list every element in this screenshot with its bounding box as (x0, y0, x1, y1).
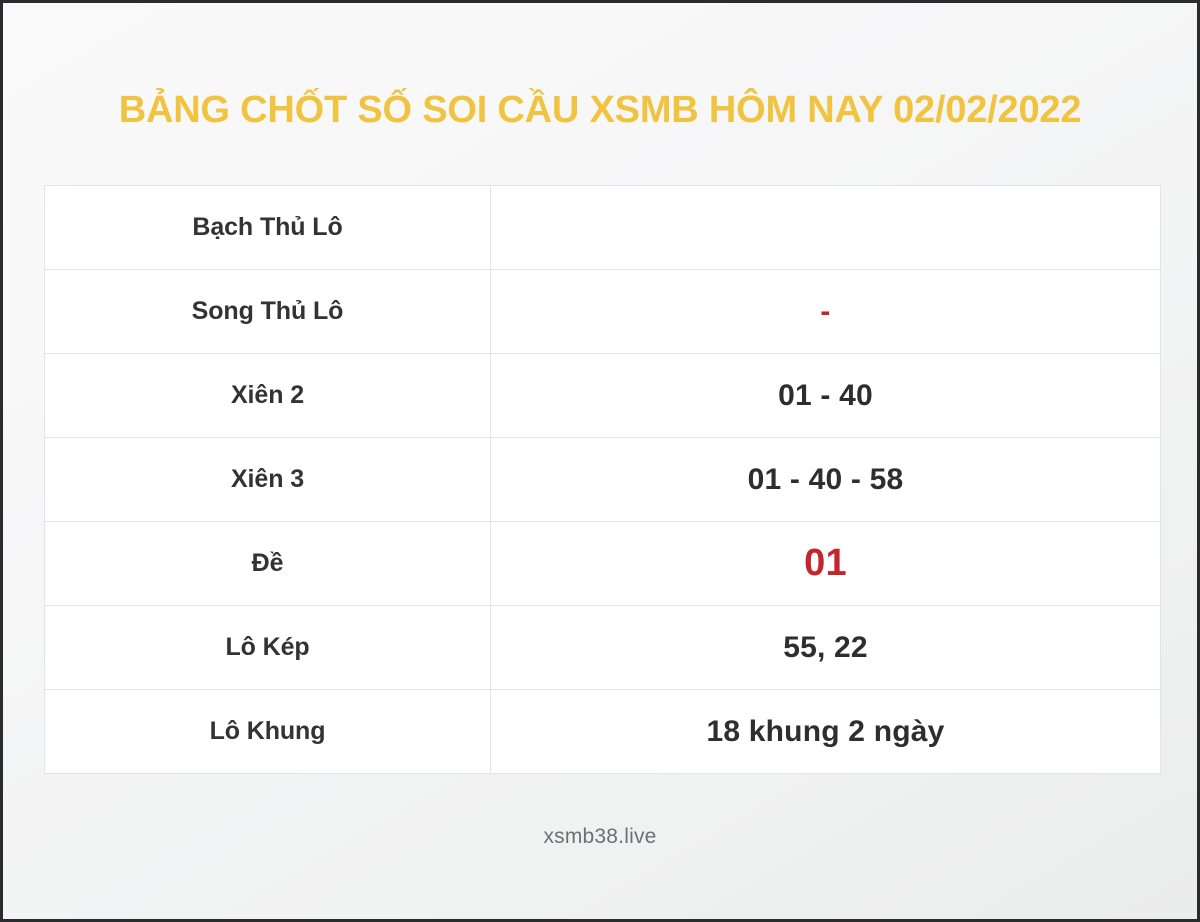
row-label-lo-khung: Lô Khung (45, 690, 491, 774)
row-label-de: Đề (45, 522, 491, 606)
row-value-xien-2: 01 - 40 (491, 354, 1161, 438)
soi-cau-table: Bạch Thủ Lô Song Thủ Lô - Xiên 2 01 - 40… (44, 185, 1161, 774)
table-row: Đề 01 (45, 522, 1161, 606)
row-label-lo-kep: Lô Kép (45, 606, 491, 690)
table-row: Bạch Thủ Lô (45, 186, 1161, 270)
row-value-lo-khung: 18 khung 2 ngày (491, 690, 1161, 774)
soi-cau-table-wrapper: Bạch Thủ Lô Song Thủ Lô - Xiên 2 01 - 40… (44, 185, 1160, 774)
row-label-song-thu-lo: Song Thủ Lô (45, 270, 491, 354)
row-value-xien-3: 01 - 40 - 58 (491, 438, 1161, 522)
row-value-de: 01 (491, 522, 1161, 606)
footer-site-name: xsmb38.live (3, 825, 1197, 849)
row-value-song-thu-lo: - (491, 270, 1161, 354)
page-container: BẢNG CHỐT SỐ SOI CẦU XSMB HÔM NAY 02/02/… (3, 3, 1197, 919)
table-row: Lô Khung 18 khung 2 ngày (45, 690, 1161, 774)
table-row: Song Thủ Lô - (45, 270, 1161, 354)
row-label-xien-2: Xiên 2 (45, 354, 491, 438)
row-value-lo-kep: 55, 22 (491, 606, 1161, 690)
table-body: Bạch Thủ Lô Song Thủ Lô - Xiên 2 01 - 40… (45, 186, 1161, 774)
page-title: BẢNG CHỐT SỐ SOI CẦU XSMB HÔM NAY 02/02/… (3, 3, 1197, 129)
row-label-xien-3: Xiên 3 (45, 438, 491, 522)
row-value-bach-thu-lo (491, 186, 1161, 270)
table-row: Lô Kép 55, 22 (45, 606, 1161, 690)
row-label-bach-thu-lo: Bạch Thủ Lô (45, 186, 491, 270)
table-row: Xiên 3 01 - 40 - 58 (45, 438, 1161, 522)
table-row: Xiên 2 01 - 40 (45, 354, 1161, 438)
